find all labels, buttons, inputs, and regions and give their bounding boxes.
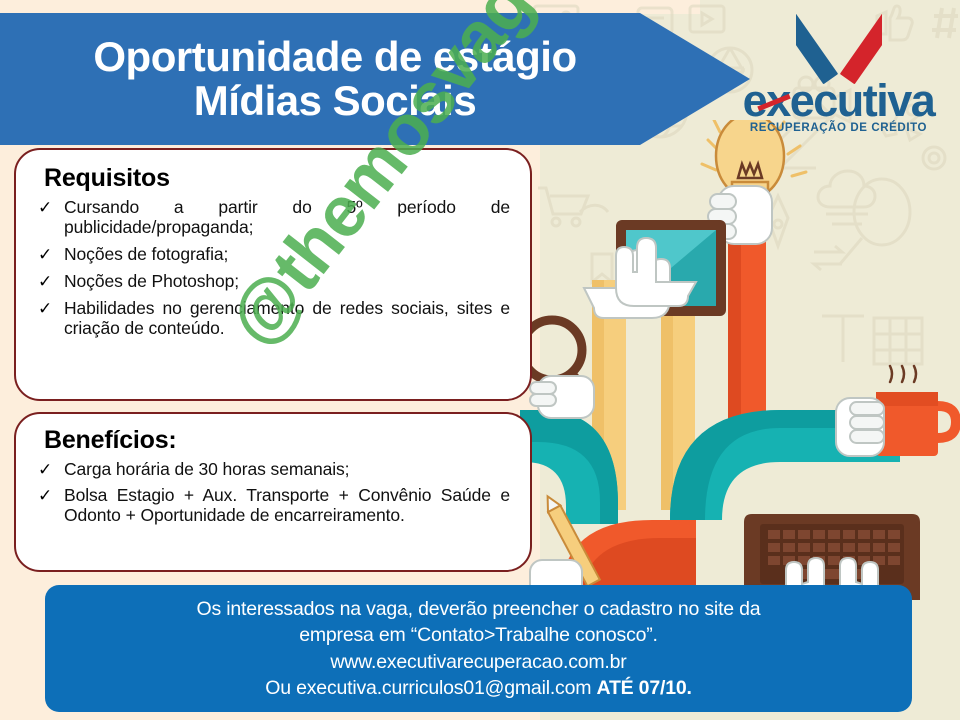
footer-contact-bar: Os interessados na vaga, deverão preench… [45, 585, 912, 712]
check-icon: ✓ [38, 198, 52, 217]
footer-website[interactable]: www.executivarecuperacao.com.br [330, 649, 626, 675]
header-banner: Oportunidade de estágio Mídias Sociais [0, 13, 750, 145]
beneficios-heading: Benefícios: [44, 426, 510, 455]
requisitos-heading: Requisitos [44, 164, 510, 193]
list-item: ✓ Bolsa Estagio + Aux. Transporte + Conv… [32, 486, 510, 526]
check-icon: ✓ [38, 299, 52, 318]
check-icon: ✓ [38, 272, 52, 291]
list-item: ✓ Cursando a partir do 5º período de pub… [32, 198, 510, 238]
x-cross-icon [796, 14, 882, 84]
list-item: ✓ Carga horária de 30 horas semanais; [32, 460, 510, 480]
beneficios-card: Benefícios: ✓ Carga horária de 30 horas … [14, 412, 532, 572]
check-icon: ✓ [38, 460, 52, 479]
footer-email[interactable]: Ou executiva.curriculos01@gmail.com [265, 677, 596, 699]
logo-wordmark: executiva [743, 80, 935, 123]
check-icon: ✓ [38, 245, 52, 264]
poster-root: Aa [0, 0, 960, 720]
page-title-line-1: Oportunidade de estágio [93, 35, 576, 79]
background-top-strip [0, 0, 700, 14]
footer-line-1: Os interessados na vaga, deverão preench… [197, 596, 761, 622]
requisitos-list: ✓ Cursando a partir do 5º período de pub… [32, 198, 510, 339]
list-item-text: Noções de Photoshop; [64, 271, 239, 291]
list-item-text: Bolsa Estagio + Aux. Transporte + Convên… [64, 485, 510, 525]
footer-line-2: empresa em “Contato>Trabalhe conosco”. [299, 622, 658, 648]
footer-line-4: Ou executiva.curriculos01@gmail.com ATÉ … [265, 675, 691, 701]
list-item-text: Noções de fotografia; [64, 244, 228, 264]
list-item: ✓ Noções de fotografia; [32, 245, 510, 265]
list-item-text: Habilidades no gerenciamento de redes so… [64, 298, 510, 338]
list-item: ✓ Noções de Photoshop; [32, 272, 510, 292]
check-icon: ✓ [38, 486, 52, 505]
page-title-line-2: Mídias Sociais [194, 79, 476, 123]
list-item-text: Carga horária de 30 horas semanais; [64, 459, 349, 479]
list-item-text: Cursando a partir do 5º período de publi… [64, 197, 510, 237]
company-logo: executiva RECUPERAÇÃO DE CRÉDITO [731, 14, 946, 154]
requisitos-card: Requisitos ✓ Cursando a partir do 5º per… [14, 148, 532, 401]
list-item: ✓ Habilidades no gerenciamento de redes … [32, 299, 510, 339]
footer-deadline: ATÉ 07/10. [597, 677, 692, 699]
beneficios-list: ✓ Carga horária de 30 horas semanais; ✓ … [32, 460, 510, 526]
